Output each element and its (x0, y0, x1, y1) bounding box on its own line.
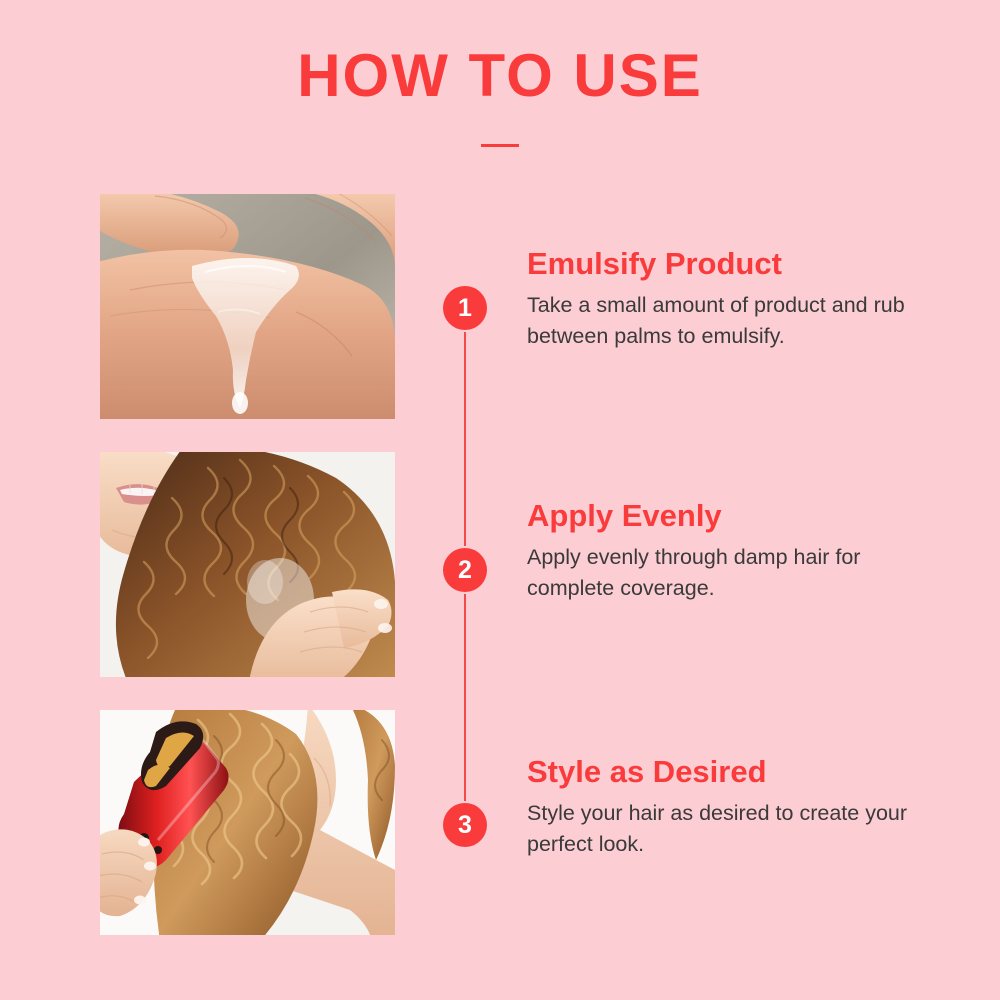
step-number-badge: 2 (443, 548, 487, 592)
step-number-badge: 3 (443, 803, 487, 847)
step-heading: Style as Desired (527, 755, 927, 789)
step-text-block: Style as Desired Style your hair as desi… (527, 755, 927, 859)
step-description: Style your hair as desired to create you… (527, 798, 927, 859)
step-number-badge: 1 (443, 286, 487, 330)
step-heading: Apply Evenly (527, 499, 927, 533)
timeline-connector-upper (464, 706, 466, 801)
step-heading: Emulsify Product (527, 247, 927, 281)
step-image-applying-to-hair (100, 452, 395, 677)
timeline-connector-upper (464, 448, 466, 546)
step-timeline: 2 (443, 452, 487, 710)
step-item: 2 Apply Evenly Apply evenly through damp… (0, 452, 1000, 710)
step-text-block: Apply Evenly Apply evenly through damp h… (527, 499, 927, 603)
step-timeline: 1 (443, 194, 487, 452)
timeline-connector-lower (464, 594, 466, 708)
title-underline-accent (481, 144, 519, 147)
step-item: 1 Emulsify Product Take a small amount o… (0, 194, 1000, 452)
steps-list: 1 Emulsify Product Take a small amount o… (0, 194, 1000, 935)
step-image-curling-iron (100, 710, 395, 935)
page-title: HOW TO USE (0, 46, 1000, 106)
step-image-hand-with-serum (100, 194, 395, 419)
step-description: Apply evenly through damp hair for compl… (527, 542, 927, 603)
step-description: Take a small amount of product and rub b… (527, 290, 927, 351)
step-item: 3 Style as Desired Style your hair as de… (0, 710, 1000, 935)
timeline-connector (464, 332, 466, 450)
how-to-use-infographic: HOW TO USE (0, 0, 1000, 1000)
header: HOW TO USE (0, 46, 1000, 147)
step-timeline: 3 (443, 710, 487, 968)
step-text-block: Emulsify Product Take a small amount of … (527, 247, 927, 351)
